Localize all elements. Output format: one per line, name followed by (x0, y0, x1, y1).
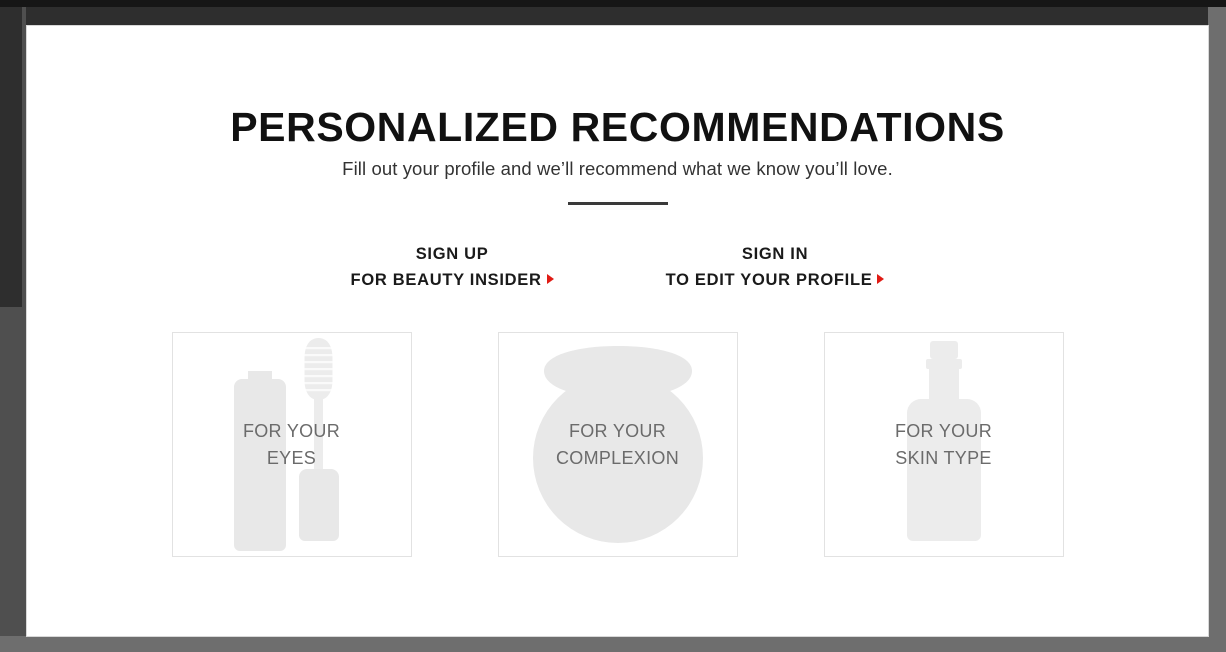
card-complexion-label-line1: FOR YOUR (499, 418, 737, 445)
card-complexion[interactable]: FOR YOUR COMPLEXION (498, 332, 738, 557)
sign-in-link-line1: SIGN IN (666, 242, 885, 268)
card-skin-type-label-line2: SKIN TYPE (825, 445, 1063, 472)
card-eyes-label: FOR YOUR EYES (173, 418, 411, 472)
sign-up-link-line2-text: FOR BEAUTY INSIDER (351, 271, 542, 289)
card-eyes-label-line2: EYES (173, 445, 411, 472)
arrow-right-icon (547, 274, 554, 284)
card-eyes-label-line1: FOR YOUR (173, 418, 411, 445)
card-skin-type-label-line1: FOR YOUR (825, 418, 1063, 445)
window-frame-top-bar (0, 7, 1226, 26)
sign-up-link[interactable]: SIGN UP FOR BEAUTY INSIDER (351, 242, 554, 293)
window-frame-right-bar (1208, 7, 1226, 652)
page-canvas: PERSONALIZED RECOMMENDATIONS Fill out yo… (27, 26, 1208, 636)
sign-up-link-line1: SIGN UP (351, 242, 554, 268)
sign-in-link-line2-text: TO EDIT YOUR PROFILE (666, 271, 873, 289)
category-cards: FOR YOUR EYES FOR YOUR COMPLEXION (27, 332, 1208, 557)
arrow-right-icon (877, 274, 884, 284)
title-divider (568, 202, 668, 205)
account-links: SIGN UP FOR BEAUTY INSIDER SIGN IN TO ED… (27, 242, 1208, 293)
screenshot-viewport: PERSONALIZED RECOMMENDATIONS Fill out yo… (0, 0, 1226, 652)
card-skin-type[interactable]: FOR YOUR SKIN TYPE (824, 332, 1064, 557)
page-title: PERSONALIZED RECOMMENDATIONS (27, 106, 1208, 149)
sign-up-link-line2: FOR BEAUTY INSIDER (351, 268, 554, 294)
card-skin-type-label: FOR YOUR SKIN TYPE (825, 418, 1063, 472)
sign-in-link-line2: TO EDIT YOUR PROFILE (666, 268, 885, 294)
page-subtitle: Fill out your profile and we’ll recommen… (27, 158, 1208, 180)
card-eyes[interactable]: FOR YOUR EYES (172, 332, 412, 557)
window-frame-left-dark-bar (0, 7, 22, 307)
card-complexion-label: FOR YOUR COMPLEXION (499, 418, 737, 472)
card-complexion-label-line2: COMPLEXION (499, 445, 737, 472)
sign-in-link[interactable]: SIGN IN TO EDIT YOUR PROFILE (666, 242, 885, 293)
window-frame-top-edge (0, 0, 1226, 7)
window-frame-bottom-bar (0, 636, 1226, 652)
recommendations-section: PERSONALIZED RECOMMENDATIONS Fill out yo… (27, 26, 1208, 636)
